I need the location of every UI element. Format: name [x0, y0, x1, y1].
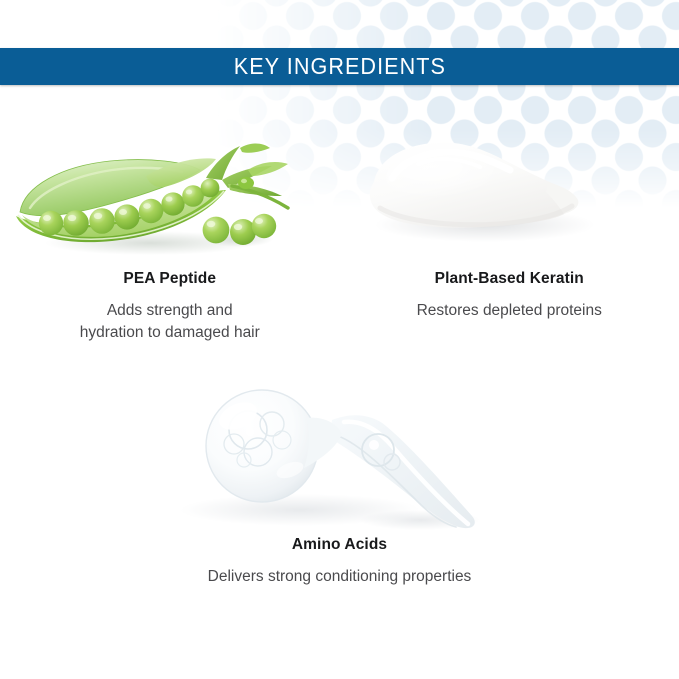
ingredients-row-bottom: Amino Acids Delivers strong conditioning…: [0, 378, 679, 598]
ingredient-name: PEA Peptide: [0, 270, 340, 289]
caption-plant-based-keratin: Plant-Based Keratin Restores depleted pr…: [340, 270, 679, 322]
serum-droplet-image: [0, 378, 679, 536]
serum-droplet-icon: [0, 378, 679, 536]
pea-pod-icon: [0, 120, 339, 270]
ingredient-description-line2: hydration to damaged hair: [0, 322, 340, 344]
ingredient-description-line1: Restores depleted proteins: [340, 300, 679, 322]
key-ingredients-banner: KEY INGREDIENTS: [0, 48, 679, 85]
ingredient-description-line1: Adds strength and: [0, 300, 340, 322]
key-ingredients-infographic: KEY INGREDIENTS: [0, 0, 679, 679]
caption-pea-peptide: PEA Peptide Adds strength and hydration …: [0, 270, 340, 344]
ingredients-row-top: PEA Peptide Adds strength and hydration …: [0, 120, 679, 350]
ingredient-card-pea-peptide: PEA Peptide Adds strength and hydration …: [0, 120, 340, 350]
pea-pod-image: [0, 120, 340, 270]
caption-amino-acids: Amino Acids Delivers strong conditioning…: [0, 536, 679, 588]
page-title: KEY INGREDIENTS: [233, 55, 445, 78]
ingredient-name: Plant-Based Keratin: [340, 270, 679, 289]
ingredient-description-line1: Delivers strong conditioning properties: [0, 566, 679, 588]
ingredient-card-amino-acids: Amino Acids Delivers strong conditioning…: [0, 378, 679, 588]
ingredient-card-plant-based-keratin: Plant-Based Keratin Restores depleted pr…: [340, 120, 679, 350]
cream-swatch-image: [340, 120, 679, 270]
ingredient-name: Amino Acids: [0, 536, 679, 555]
cream-swatch-icon: [340, 120, 679, 270]
